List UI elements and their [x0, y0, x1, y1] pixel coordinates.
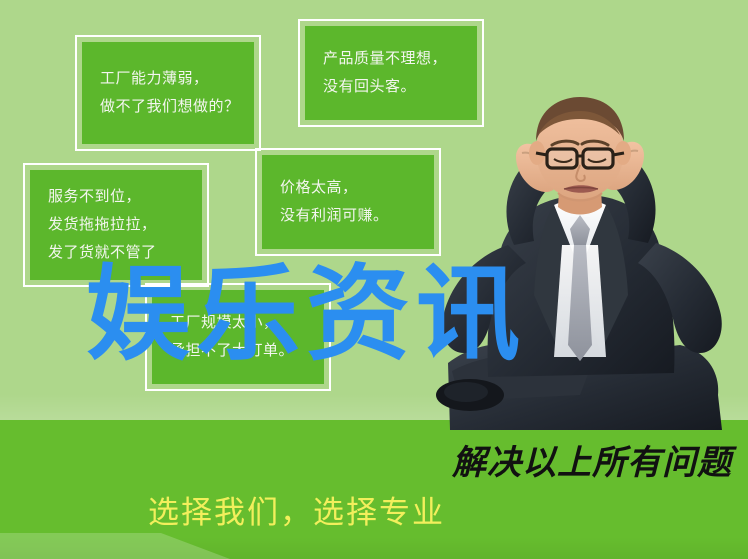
problem-line: 做不了我们想做的？: [100, 93, 236, 121]
problem-box-factory-capability: 工厂能力薄弱， 做不了我们想做的？: [82, 42, 254, 144]
watermark-headline: 娱乐资讯: [86, 262, 526, 366]
problem-line: 产品质量不理想，: [323, 45, 459, 73]
problem-box-price-too-high: 价格太高， 没有利润可赚。: [262, 155, 434, 249]
solve-all-problems-text: 解决以上所有问题: [452, 443, 732, 483]
problem-line: 服务不到位，: [48, 183, 184, 211]
choose-us-slogan: 选择我们，选择专业: [148, 494, 445, 532]
problem-line: 没有利润可赚。: [280, 202, 416, 230]
problem-line: 发货拖拖拉拉，: [48, 211, 184, 239]
problem-line: 工厂能力薄弱，: [100, 65, 236, 93]
problem-line: 价格太高，: [280, 174, 416, 202]
poster-canvas: 工厂能力薄弱， 做不了我们想做的？ 产品质量不理想， 没有回头客。 服务不到位，…: [0, 0, 748, 559]
